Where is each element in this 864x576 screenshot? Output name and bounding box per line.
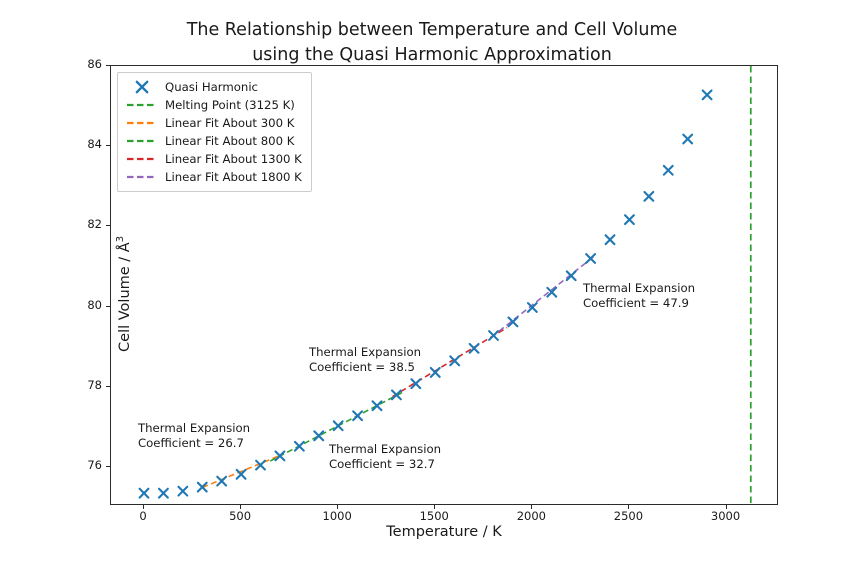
legend-item-label: Linear Fit About 300 K: [165, 116, 294, 130]
legend-item: Linear Fit About 1300 K: [125, 150, 302, 168]
data-point-marker: [334, 421, 343, 430]
y-tick-mark: [106, 225, 110, 226]
legend-item-label: Melting Point (3125 K): [165, 98, 295, 112]
y-tick-mark: [106, 466, 110, 467]
thermal-expansion-annotation: Thermal Expansion Coefficient = 32.7: [329, 442, 441, 472]
fit-line: [492, 256, 595, 337]
data-point-marker: [431, 368, 440, 377]
data-point-marker: [159, 489, 168, 498]
legend-item-label: Linear Fit About 800 K: [165, 134, 294, 148]
data-point-marker: [644, 192, 653, 201]
data-point-marker: [140, 489, 149, 498]
data-point-marker: [295, 442, 304, 451]
data-point-marker: [178, 487, 187, 496]
x-tick-label: 1000: [307, 509, 367, 523]
legend: Quasi HarmonicMelting Point (3125 K)Line…: [117, 72, 312, 192]
x-tick-label: 0: [113, 509, 173, 523]
legend-item: Melting Point (3125 K): [125, 96, 302, 114]
y-tick-label: 84: [62, 137, 102, 151]
x-axis-label: Temperature / K: [110, 524, 778, 540]
legend-item-label: Quasi Harmonic: [165, 80, 258, 94]
legend-item: Linear Fit About 1800 K: [125, 168, 302, 186]
legend-item-label: Linear Fit About 1300 K: [165, 152, 302, 166]
x-tick-label: 2000: [501, 509, 561, 523]
y-tick-mark: [106, 65, 110, 66]
figure-canvas: The Relationship between Temperature and…: [0, 0, 864, 576]
data-point-marker: [314, 431, 323, 440]
thermal-expansion-annotation: Thermal Expansion Coefficient = 47.9: [583, 281, 695, 311]
y-tick-label: 80: [62, 298, 102, 312]
data-point-marker: [586, 254, 595, 263]
x-tick-label: 3000: [696, 509, 756, 523]
data-point-marker: [683, 135, 692, 144]
legend-line-icon: [125, 151, 159, 167]
data-point-marker: [470, 344, 479, 353]
data-point-marker: [625, 215, 634, 224]
data-point-marker: [276, 451, 285, 460]
y-axis-label-exponent: 3: [115, 236, 126, 242]
data-point-marker: [606, 235, 615, 244]
legend-line-icon: [125, 97, 159, 113]
y-axis-label-text: Cell Volume / Å: [117, 242, 133, 352]
x-tick-label: 500: [210, 509, 270, 523]
thermal-expansion-annotation: Thermal Expansion Coefficient = 26.7: [138, 421, 250, 451]
x-tick-label: 1500: [404, 509, 464, 523]
data-point-marker: [489, 331, 498, 340]
y-tick-label: 86: [62, 57, 102, 71]
y-tick-mark: [106, 386, 110, 387]
data-point-marker: [373, 401, 382, 410]
data-point-marker: [353, 411, 362, 420]
data-point-marker: [664, 166, 673, 175]
data-point-marker: [392, 391, 401, 400]
data-point-marker: [217, 477, 226, 486]
data-point-marker: [703, 90, 712, 99]
data-point-marker: [567, 271, 576, 280]
page-title: The Relationship between Temperature and…: [0, 18, 864, 68]
legend-item: Linear Fit About 800 K: [125, 132, 302, 150]
x-tick-label: 2500: [598, 509, 658, 523]
thermal-expansion-annotation: Thermal Expansion Coefficient = 38.5: [309, 345, 421, 375]
legend-item: Linear Fit About 300 K: [125, 114, 302, 132]
data-point-marker: [198, 483, 207, 492]
legend-line-icon: [125, 169, 159, 185]
y-tick-mark: [106, 145, 110, 146]
fit-line: [202, 455, 280, 487]
legend-line-icon: [125, 133, 159, 149]
y-tick-mark: [106, 306, 110, 307]
y-tick-label: 82: [62, 217, 102, 231]
y-tick-label: 78: [62, 378, 102, 392]
legend-item: Quasi Harmonic: [125, 78, 302, 96]
legend-item-label: Linear Fit About 1800 K: [165, 170, 302, 184]
y-tick-label: 76: [62, 458, 102, 472]
legend-line-icon: [125, 115, 159, 131]
legend-marker-icon: [125, 79, 159, 95]
